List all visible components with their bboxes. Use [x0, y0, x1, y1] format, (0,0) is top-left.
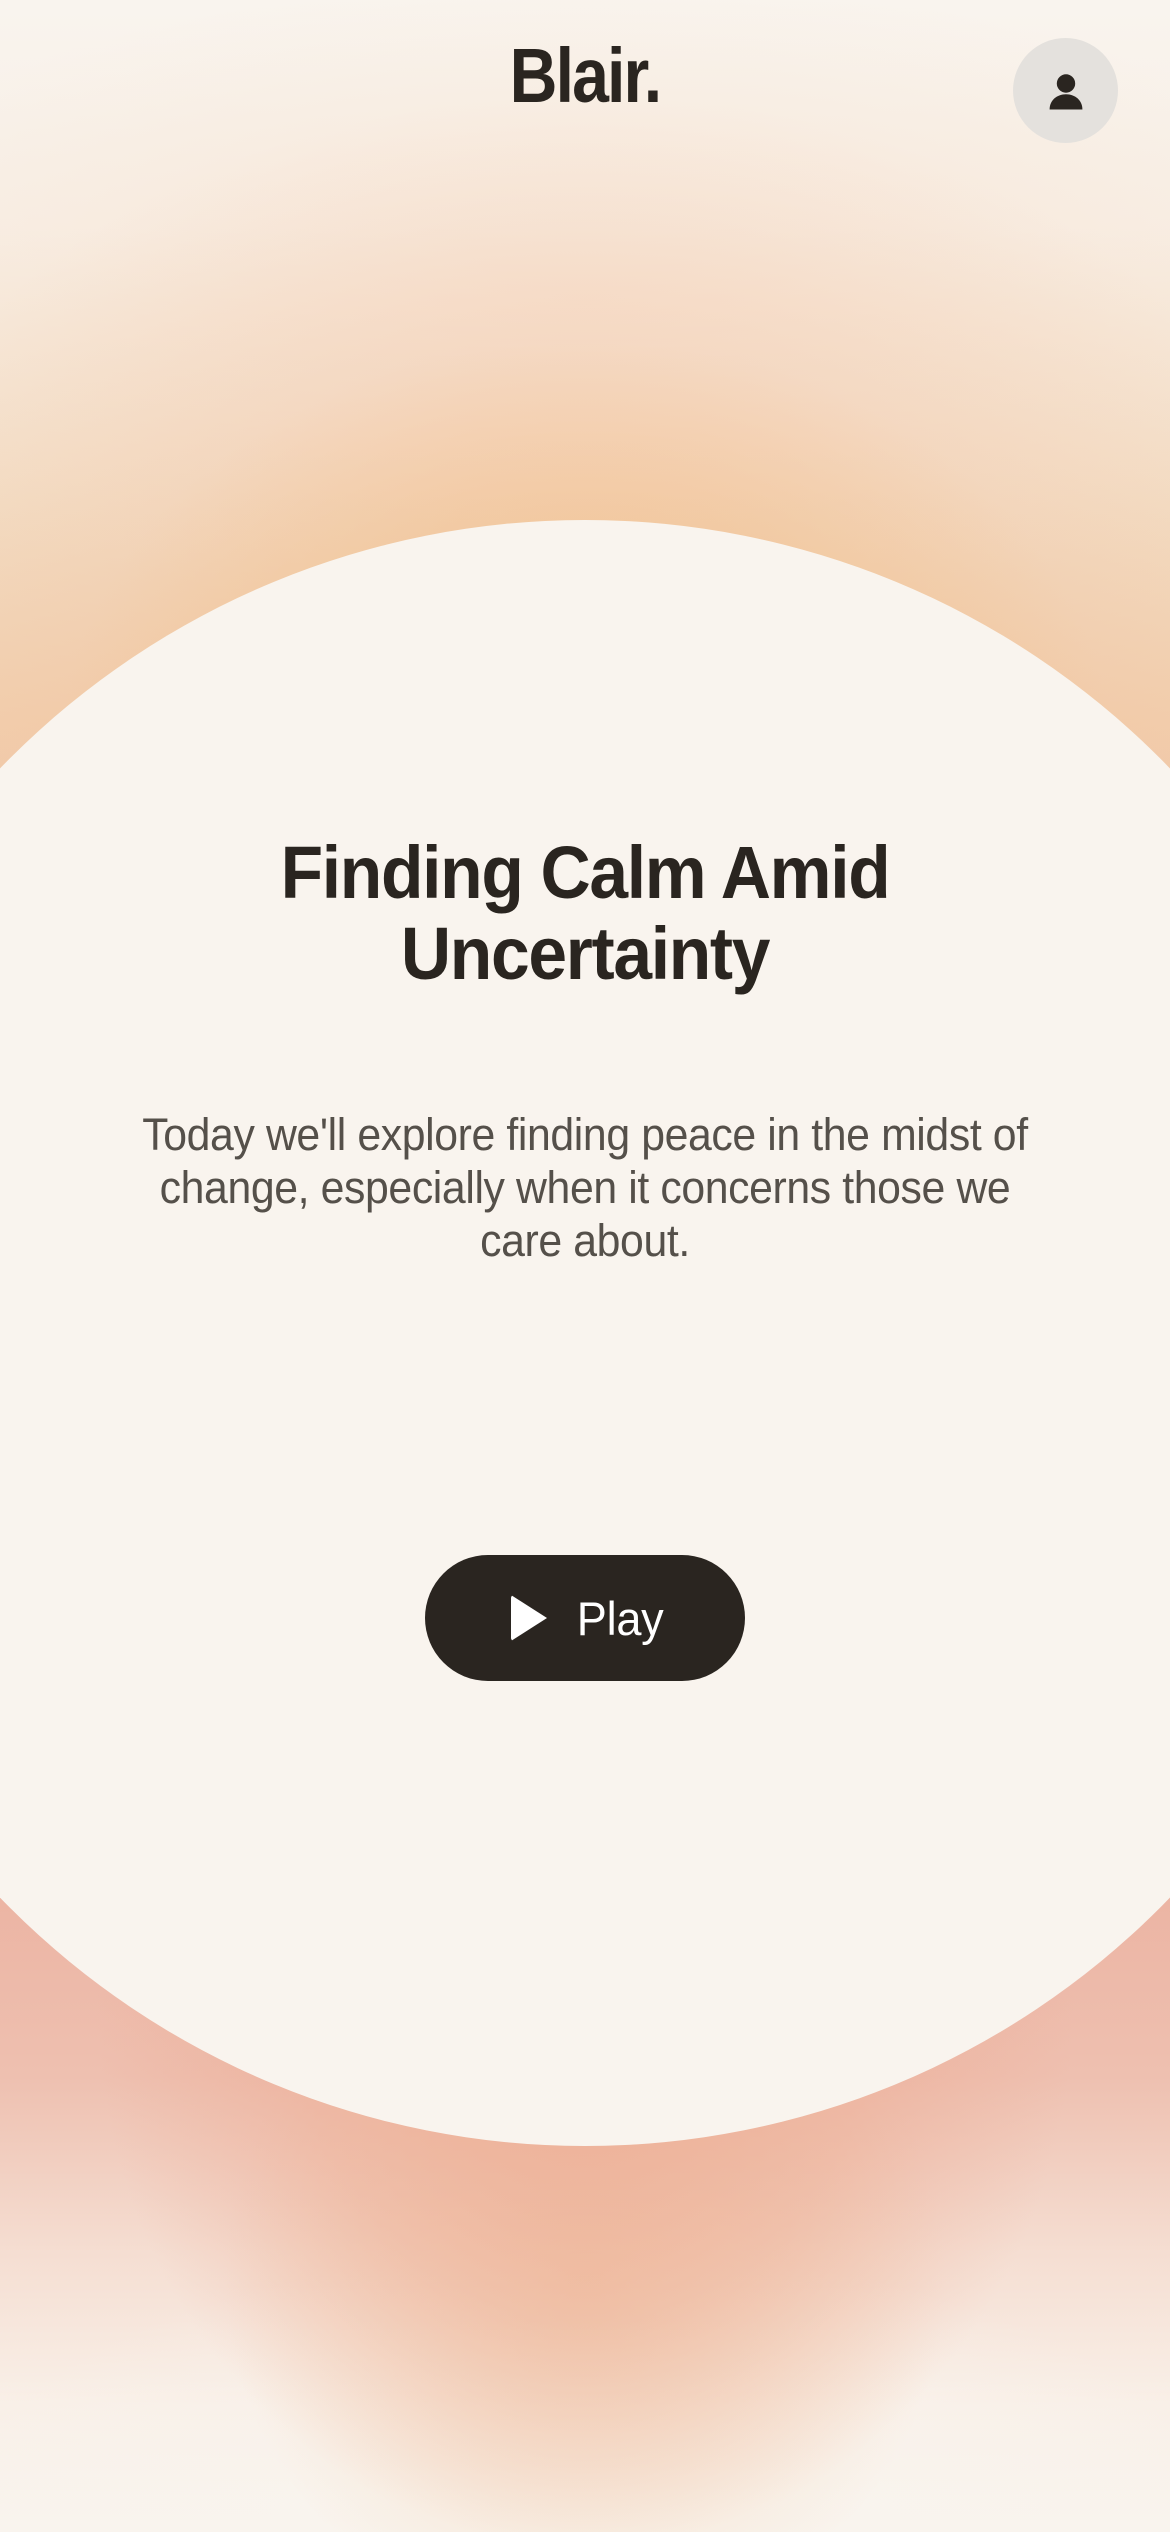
- avatar-button[interactable]: [1013, 38, 1118, 143]
- hero-circle-backdrop: [0, 520, 1170, 2146]
- person-icon: [1043, 68, 1089, 114]
- episode-title: Finding Calm Amid Uncertainty: [115, 833, 1055, 994]
- episode-description: Today we'll explore finding peace in the…: [120, 1108, 1051, 1267]
- play-triangle-icon: [511, 1595, 547, 1641]
- play-button-label: Play: [577, 1595, 664, 1642]
- app-header: Blair.: [0, 0, 1170, 176]
- brand-logo: Blair.: [82, 38, 1088, 115]
- play-button[interactable]: Play: [425, 1555, 745, 1681]
